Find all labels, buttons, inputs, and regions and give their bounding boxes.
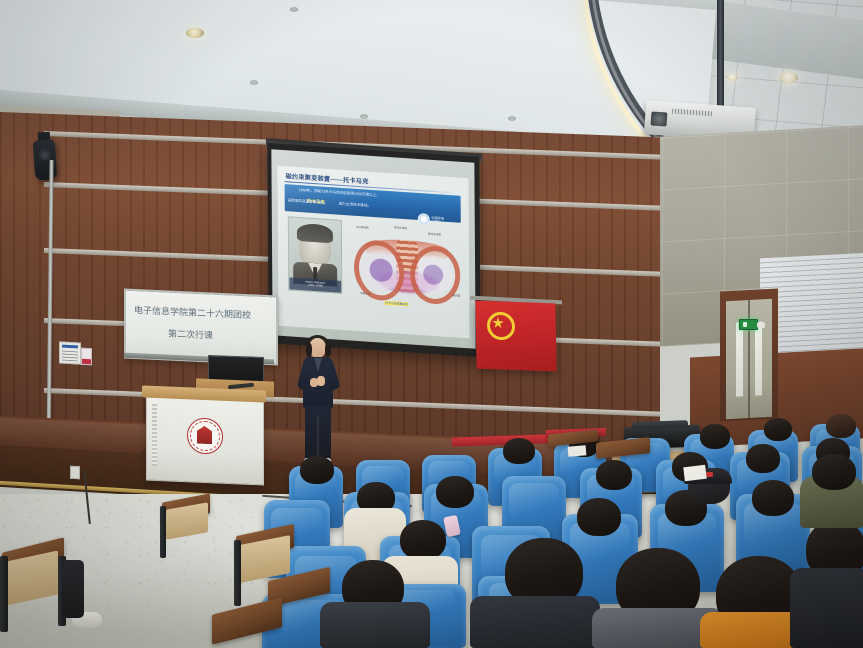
projection-screen: 磁约束聚变装置——托卡马克 1968年，苏联T3托卡马克先后取得1000万度以上…	[271, 149, 475, 349]
presenter-hair-right	[325, 343, 331, 357]
audience-torso-foreground	[470, 596, 600, 648]
wall-power-socket	[70, 466, 80, 480]
audience-head	[503, 438, 535, 464]
university-crest-icon	[187, 417, 223, 455]
presenter	[296, 338, 340, 470]
sign-red-footer	[82, 359, 91, 364]
lecture-hall-photo: 磁约束聚变装置——托卡马克 1968年，苏联T3托卡马克先后取得1000万度以上…	[0, 0, 863, 648]
presenter-trouser-seam	[317, 416, 319, 460]
ceiling-sprinkler	[360, 114, 368, 119]
sign-text-lines	[62, 350, 78, 362]
seat-post	[160, 506, 166, 558]
ceiling-downlight	[727, 74, 738, 81]
sign-header-bar	[62, 345, 78, 349]
door-glass-pane	[755, 321, 762, 395]
audience-head	[436, 476, 474, 508]
ceiling-sprinkler	[290, 7, 298, 12]
audience-head	[752, 480, 794, 516]
cap-logo-icon	[706, 472, 713, 477]
audience-head	[826, 414, 856, 438]
projector-lens	[651, 111, 668, 126]
screen-glare	[271, 149, 475, 349]
seat-post	[234, 540, 241, 606]
audience-head	[764, 418, 792, 441]
audience-torso-foreground	[320, 602, 430, 648]
wall-notice-sign-small	[81, 348, 92, 366]
audience-leg	[62, 560, 84, 618]
audience-head	[700, 424, 730, 449]
wall-notice-sign	[59, 341, 81, 364]
ceiling-downlight	[780, 72, 798, 83]
whiteboard-line-1: 电子信息学院第二十六期团校	[134, 303, 251, 321]
ceiling-downlight	[186, 28, 204, 38]
wall-speaker	[33, 139, 58, 180]
audience-head	[746, 444, 780, 473]
door-center-gap	[748, 300, 750, 418]
seat-post	[0, 556, 8, 632]
lectern-vent-slot	[152, 404, 157, 466]
ceiling-sprinkler	[508, 116, 516, 121]
presenter-hair-left	[306, 343, 312, 357]
youth-league-flag	[475, 301, 556, 372]
flag-emblem-ring-icon	[487, 311, 515, 340]
emergency-light	[757, 322, 765, 328]
whiteboard-line-2: 第二次行课	[168, 327, 213, 342]
projector-mount-pole	[717, 0, 724, 112]
presenter-right-hand	[317, 376, 325, 386]
audience-head	[300, 456, 334, 484]
audience-head	[400, 520, 446, 560]
ceiling-sprinkler	[250, 80, 258, 85]
audience-head	[812, 454, 856, 490]
audience-head	[577, 498, 621, 536]
audience-head	[596, 460, 632, 490]
paper-sheet	[683, 465, 707, 482]
door-glass-pane	[736, 322, 743, 396]
audience-torso-foreground	[790, 568, 863, 648]
projector-top-cover	[632, 420, 688, 429]
exit-sign-icon	[739, 319, 758, 330]
paper-sheet	[568, 445, 587, 457]
